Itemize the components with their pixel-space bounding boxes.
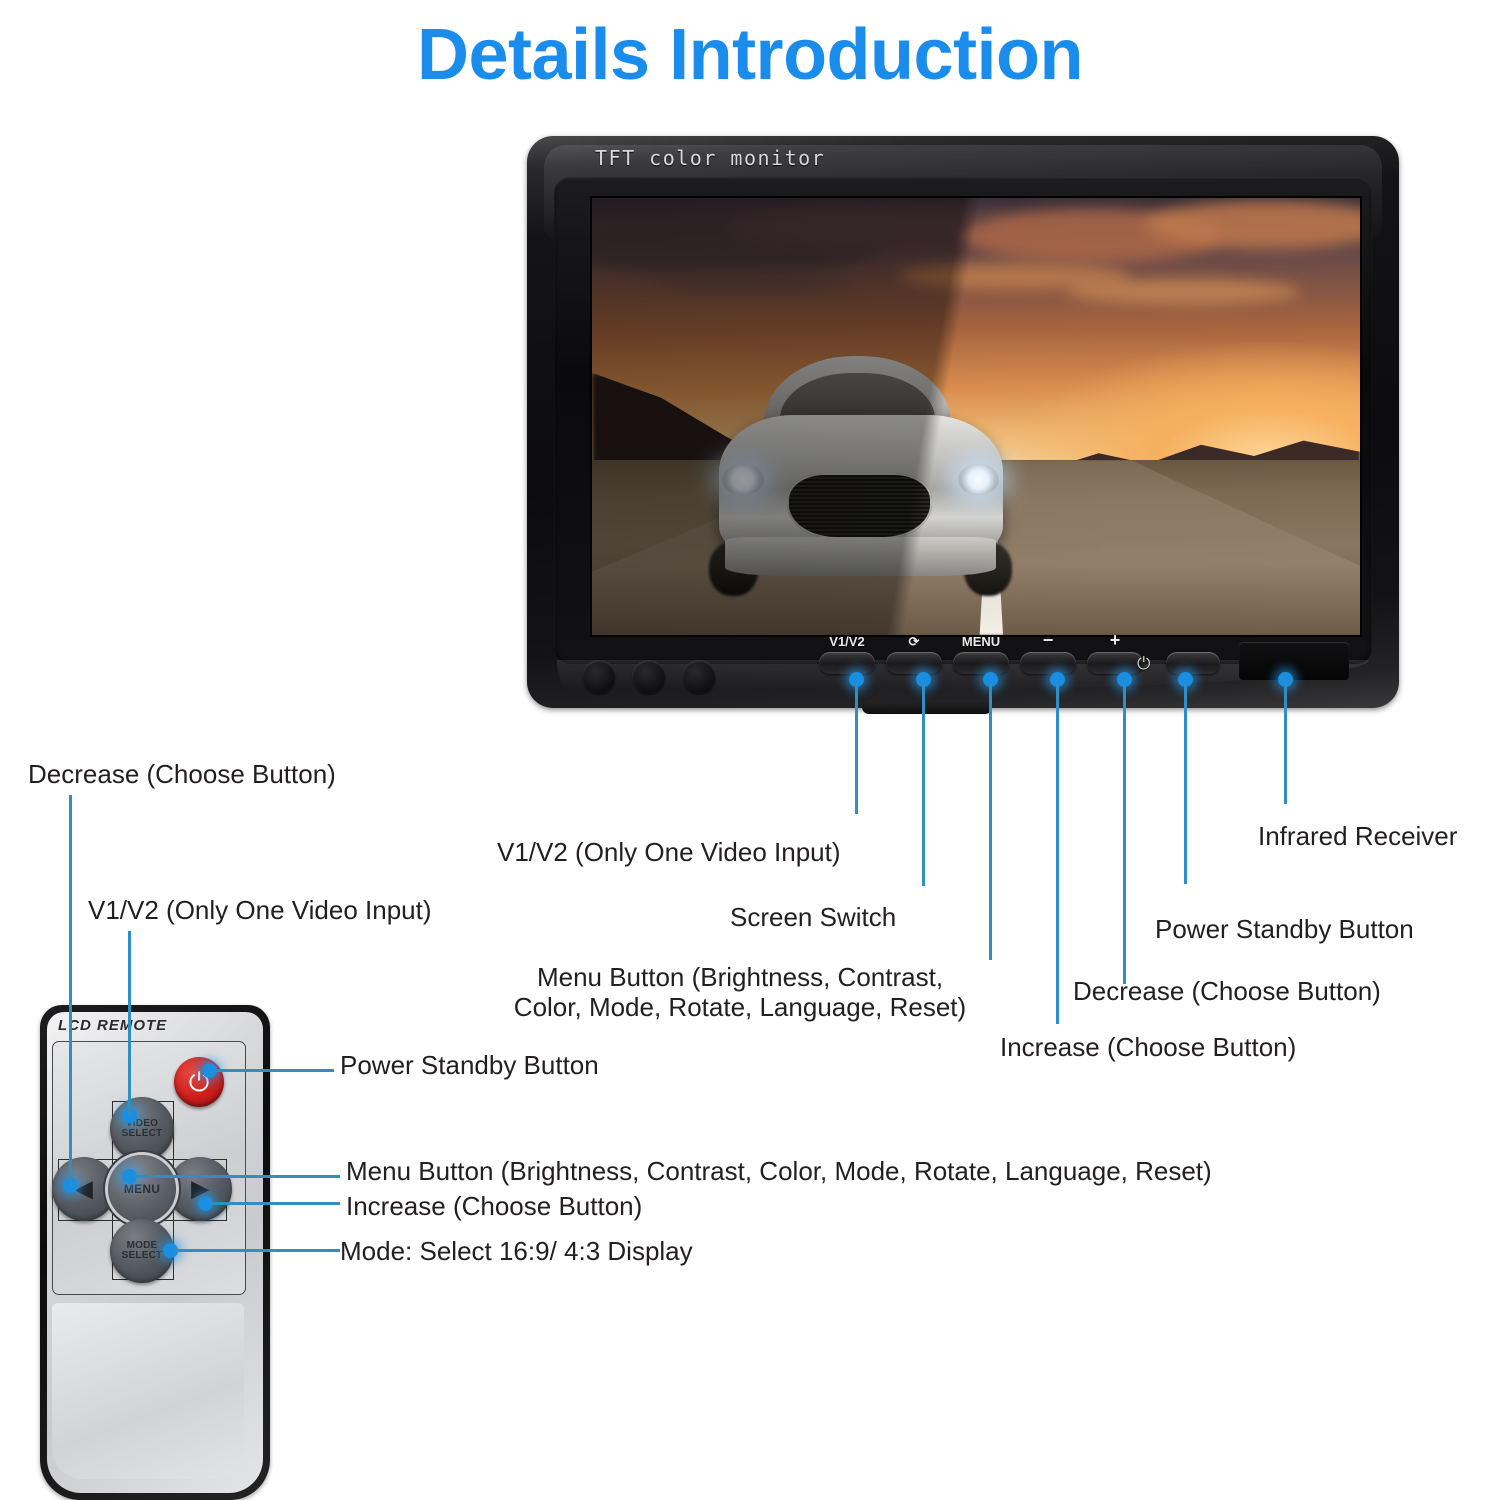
leader-remote-right-arrow: [210, 1202, 340, 1205]
label-menu-line2: Color, Mode, Rotate, Language, Reset): [514, 992, 966, 1022]
label-remote-menu-button: Menu Button (Brightness, Contrast, Color…: [346, 1157, 1212, 1187]
screen-switch-icon: ⟳: [879, 634, 949, 650]
label-remote-power-standby: Power Standby Button: [340, 1051, 599, 1081]
remote-dpad: VIDEO SELECT ◀ ▶ MENU MODE SELECT: [58, 1101, 228, 1281]
screen-car: [700, 351, 1023, 596]
tft-monitor: TFT color monitor: [527, 136, 1399, 708]
leader-power-standby: [1184, 684, 1187, 884]
arrow-left-icon: ◀: [75, 1178, 92, 1200]
leader-increase: [1123, 684, 1126, 984]
label-remote-mode-select: Mode: Select 16:9/ 4:3 Display: [340, 1237, 693, 1267]
remote-right-arrow-button[interactable]: ▶: [168, 1157, 232, 1221]
leader-remote-menu: [134, 1175, 340, 1178]
remote-lower-body: [52, 1303, 244, 1479]
speaker-hole-2: [632, 660, 666, 694]
remote-brand-label: LCD REMOTE: [58, 1017, 167, 1034]
label-remote-increase: Increase (Choose Button): [346, 1192, 642, 1222]
power-icon: ⏻: [1137, 654, 1150, 674]
lcd-remote: LCD REMOTE ⏻ VIDEO SELECT ◀ ▶ MENU: [40, 1005, 270, 1500]
increase-button-label: +: [1080, 630, 1150, 651]
label-decrease-left: Decrease (Choose Button): [28, 760, 336, 790]
label-decrease-right: Decrease (Choose Button): [1073, 977, 1381, 1007]
leader-remote-mode-select: [175, 1249, 340, 1252]
label-menu-line1: Menu Button (Brightness, Contrast,: [537, 962, 943, 992]
leader-remote-video-select: [128, 931, 131, 1115]
v1v2-button[interactable]: [819, 652, 875, 674]
label-infrared-receiver: Infrared Receiver: [1258, 822, 1457, 852]
menu-button[interactable]: [953, 652, 1009, 674]
label-increase-right: Increase (Choose Button): [1000, 1033, 1296, 1063]
remote-power-button[interactable]: ⏻: [174, 1057, 224, 1107]
monitor-stand-foot: [862, 702, 992, 714]
label-v1v2-left: V1/V2 (Only One Video Input): [88, 896, 432, 926]
speaker-hole-1: [582, 660, 616, 694]
leader-infrared: [1284, 684, 1287, 804]
monitor-brand-label: TFT color monitor: [595, 146, 825, 170]
leader-menu: [989, 684, 992, 960]
leader-v1v2: [855, 684, 858, 814]
label-power-standby-monitor: Power Standby Button: [1155, 915, 1414, 945]
v1v2-button-label: V1/V2: [812, 634, 882, 649]
increase-button[interactable]: [1087, 652, 1143, 674]
decrease-button-label: −: [1013, 630, 1083, 651]
remote-left-arrow-button[interactable]: ◀: [52, 1157, 116, 1221]
product-detail-infographic: Details Introduction TFT color monitor: [0, 0, 1500, 1500]
label-v1v2-center: V1/V2 (Only One Video Input): [497, 838, 841, 868]
monitor-screen: [592, 198, 1360, 635]
leader-decrease: [1056, 684, 1059, 1024]
leader-remote-power: [214, 1069, 334, 1072]
video-select-line2: SELECT: [122, 1129, 163, 1140]
page-title: Details Introduction: [0, 14, 1500, 96]
power-standby-button[interactable]: [1166, 652, 1220, 674]
car-headlight-left: [722, 464, 764, 496]
menu-button-label: MENU: [946, 634, 1016, 649]
mode-select-line2: SELECT: [122, 1251, 163, 1262]
leader-remote-left-arrow: [69, 795, 72, 1185]
leader-screen-switch: [922, 684, 925, 886]
speaker-hole-3: [682, 660, 716, 694]
remote-menu-button[interactable]: MENU: [108, 1155, 176, 1223]
remote-video-select-button[interactable]: VIDEO SELECT: [110, 1097, 174, 1161]
label-screen-switch: Screen Switch: [730, 903, 896, 933]
infrared-receiver-window: [1239, 642, 1349, 680]
screen-switch-button[interactable]: [886, 652, 942, 674]
decrease-button[interactable]: [1020, 652, 1076, 674]
remote-menu-label: MENU: [124, 1183, 160, 1196]
label-menu-button: Menu Button (Brightness, Contrast, Color…: [470, 963, 1010, 1022]
